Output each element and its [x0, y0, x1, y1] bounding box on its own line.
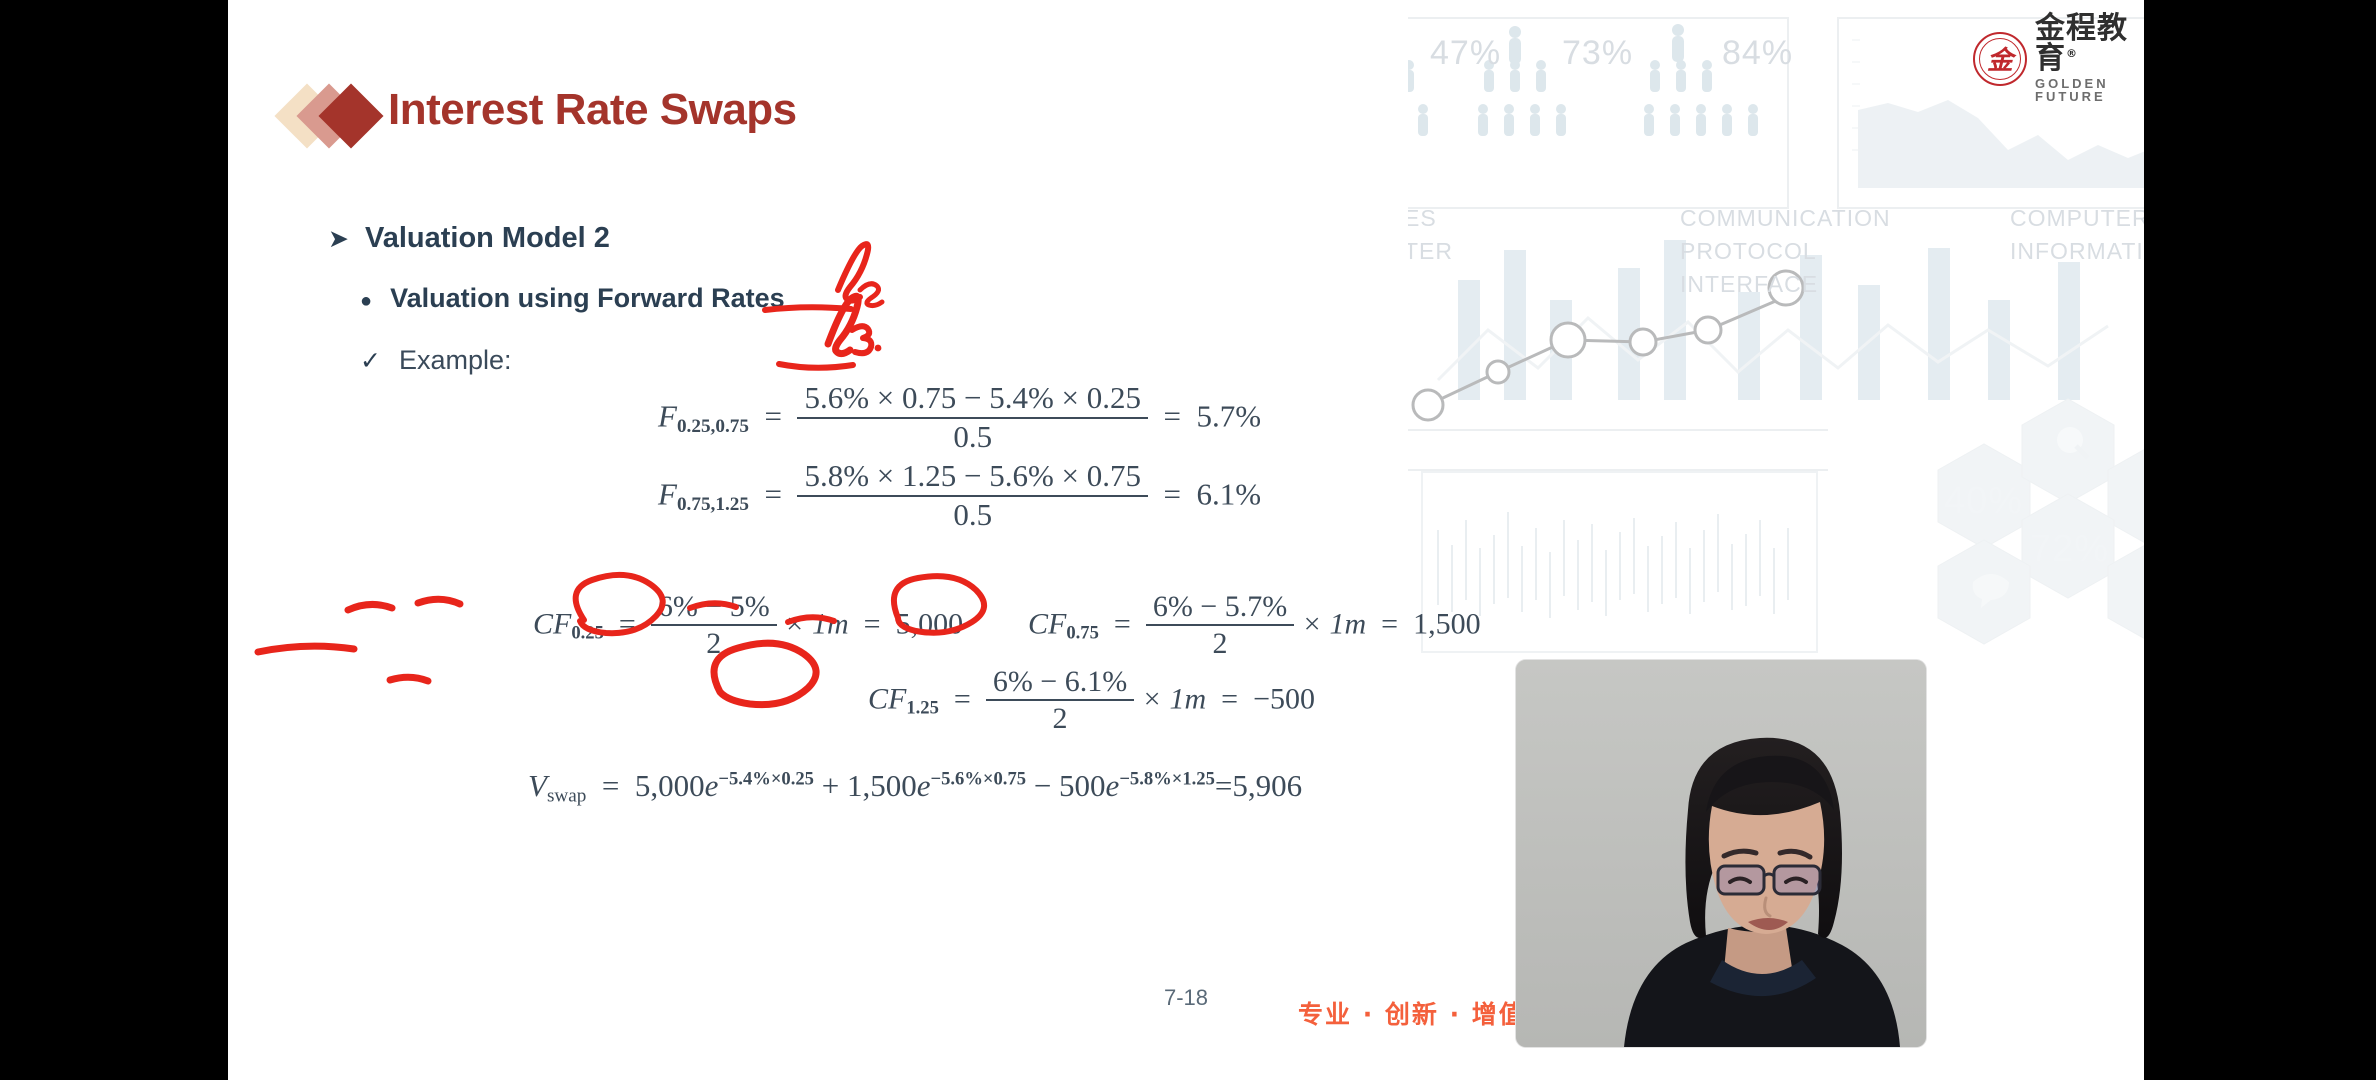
bullet-level1-label: Valuation Model 2: [365, 222, 610, 255]
cf1-equals2: =: [856, 607, 888, 640]
ink-underline-numerator-1a: [348, 604, 392, 610]
ink-handwriting-l3-sub: [852, 326, 871, 353]
ink-handwriting-l3-dot: [875, 345, 882, 352]
watermark-label-es: ES: [1408, 205, 1437, 232]
registered-mark: ®: [2066, 47, 2078, 60]
cash-flow-equation-2: CF0.75 = 6% − 5.7% 2 × 1m = 1,500: [1028, 590, 1481, 663]
cf3-multiplier: × 1m: [1142, 682, 1206, 715]
cf3-equals: =: [946, 682, 978, 715]
bullet-arrow-icon: ➤: [328, 224, 349, 254]
cf1-subscript: 0.25: [571, 622, 604, 643]
footer-slogan: 专业 · 创新 · 增值: [1298, 995, 1526, 1031]
watermark-label-ter: TER: [1408, 238, 1453, 265]
cf1-fraction: 6% − 5% 2: [651, 589, 777, 662]
letterbox-bar-right: [2144, 0, 2376, 1080]
cf2-multiplier: × 1m: [1302, 607, 1366, 640]
vswap-term2-exponent: −5.6%×0.75: [930, 768, 1026, 789]
vswap-symbol: V: [528, 768, 547, 803]
vswap-term3-coef: 500: [1059, 768, 1106, 803]
vswap-equals: =: [594, 768, 627, 803]
cf1-multiplier: × 1m: [784, 607, 848, 640]
vswap-term3-exponent: −5.8%×1.25: [1119, 768, 1215, 789]
fr1-fraction: 5.6% × 0.75 − 5.4% × 0.25 0.5: [797, 380, 1148, 455]
cf2-numerator: 6% − 5.7%: [1146, 589, 1294, 624]
ink-underline-numerator-1b: [418, 599, 460, 604]
fr2-subscript: 0.75,1.25: [677, 494, 749, 515]
brand-name-cn: 金程教育®: [2035, 14, 2144, 74]
brand-name-en: GOLDEN FUTURE: [2035, 77, 2144, 103]
slide-title-row: Interest Rate Swaps: [284, 85, 797, 135]
cf3-subscript: 1.25: [906, 697, 939, 718]
bullet-level3: ✓ Example:: [360, 345, 512, 376]
fr2-result: 6.1%: [1197, 477, 1262, 512]
vswap-term2-base: e: [917, 768, 931, 803]
vswap-op2: +: [822, 768, 839, 803]
bullet-level1: ➤ Valuation Model 2: [328, 222, 610, 255]
ink-handwriting-l3: [828, 296, 858, 353]
fr2-numerator: 5.8% × 1.25 − 5.6% × 0.75: [797, 458, 1148, 495]
cf2-denominator: 2: [1146, 624, 1294, 661]
bullet-dot-icon: ●: [360, 290, 372, 313]
watermark-label-interface: INTERFACE: [1680, 271, 1818, 298]
bullet-level2: ● Valuation using Forward Rates: [360, 283, 785, 314]
cash-flow-equation-1: CF0.25 = 6% − 5% 2 × 1m = 5,000: [533, 590, 963, 663]
brand-logo: 金 金程教育® GOLDEN FUTURE: [1973, 14, 2144, 103]
vswap-term3-base: e: [1106, 768, 1120, 803]
brand-name-cn-text: 金程教育: [2035, 11, 2128, 76]
vswap-term1-base: e: [705, 768, 719, 803]
watermark-label-information: INFORMATION: [2010, 238, 2144, 265]
screen: 47% 73% 84% ES TER COMMUNICATION PROTOCO…: [0, 0, 2376, 1080]
watermark-hex-72: 72%: [2030, 528, 2109, 571]
vswap-term1-exponent: −5.4%×0.25: [718, 768, 814, 789]
page-title: Interest Rate Swaps: [388, 85, 797, 135]
cf3-denominator: 2: [986, 699, 1134, 736]
fr1-subscript: 0.25,0.75: [677, 416, 749, 437]
watermark-label-communication: COMMUNICATION: [1680, 205, 1891, 232]
cf3-symbol: CF: [868, 682, 906, 715]
ink-handwriting-l2: [838, 244, 868, 300]
watermark-percent-47: 47%: [1430, 34, 1501, 73]
fr2-symbol: F: [658, 477, 677, 512]
ink-underline-denominator-1: [390, 677, 428, 681]
cf1-equals: =: [611, 607, 643, 640]
fr2-denominator: 0.5: [797, 495, 1148, 534]
fr1-symbol: F: [658, 399, 677, 434]
fr1-denominator: 0.5: [797, 417, 1148, 456]
cf1-result: 5,000: [896, 607, 964, 640]
cf2-subscript: 0.75: [1066, 622, 1099, 643]
cf3-result: −500: [1253, 682, 1315, 715]
vswap-result: 5,906: [1232, 768, 1302, 803]
seal-mark-glyph: 金: [1975, 34, 2025, 84]
fr2-equals: =: [757, 477, 790, 512]
watermark-label-computer: COMPUTER: [2010, 205, 2144, 232]
cf1-denominator: 2: [651, 624, 777, 661]
forward-rate-equation-1: F0.25,0.75 = 5.6% × 0.75 − 5.4% × 0.25 0…: [658, 382, 1261, 457]
fr1-result: 5.7%: [1197, 399, 1262, 434]
watermark-percent-73: 73%: [1562, 34, 1633, 73]
fr1-equals2: =: [1156, 399, 1189, 434]
cf3-numerator: 6% − 6.1%: [986, 664, 1134, 699]
fr2-fraction: 5.8% × 1.25 − 5.6% × 0.75 0.5: [797, 458, 1148, 533]
seal-icon: 金: [1973, 32, 2027, 86]
forward-rate-equation-2: F0.75,1.25 = 5.8% × 1.25 − 5.6% × 0.75 0…: [658, 460, 1261, 535]
vswap-subscript: swap: [547, 785, 586, 806]
cf2-result: 1,500: [1413, 607, 1481, 640]
bullet-level3-label: Example:: [399, 345, 512, 376]
valuation-equation: Vswap = 5,000e−5.4%×0.25 + 1,500e−5.6%×0…: [528, 768, 1302, 807]
fr2-equals2: =: [1156, 477, 1189, 512]
letterbox-bar-left: [0, 0, 228, 1080]
presenter-webcam[interactable]: [1516, 660, 1926, 1047]
cf1-symbol: CF: [533, 607, 571, 640]
watermark-hex-40: 40%: [1944, 480, 2023, 523]
slide-canvas: 47% 73% 84% ES TER COMMUNICATION PROTOCO…: [228, 0, 2144, 1080]
vswap-equals2: =: [1215, 768, 1232, 803]
ink-underline-6-1-percent: [779, 364, 853, 368]
ink-underline-cf-025: [258, 646, 354, 652]
bullet-level2-label: Valuation using Forward Rates: [390, 283, 785, 314]
fr1-numerator: 5.6% × 0.75 − 5.4% × 0.25: [797, 380, 1148, 417]
cf2-symbol: CF: [1028, 607, 1066, 640]
vswap-op3: −: [1034, 768, 1051, 803]
cf2-fraction: 6% − 5.7% 2: [1146, 589, 1294, 662]
vswap-term1-coef: 5,000: [635, 768, 705, 803]
cf3-equals2: =: [1214, 682, 1246, 715]
bullet-check-icon: ✓: [360, 346, 381, 376]
watermark-label-protocol: PROTOCOL: [1680, 238, 1817, 265]
vswap-term2-coef: 1,500: [847, 768, 917, 803]
cf2-equals: =: [1106, 607, 1138, 640]
ink-handwriting-l2-sub: [860, 284, 882, 306]
cf1-numerator: 6% − 5%: [651, 589, 777, 624]
fr1-equals: =: [757, 399, 790, 434]
cash-flow-equation-3: CF1.25 = 6% − 6.1% 2 × 1m = −500: [868, 665, 1315, 738]
cf2-equals2: =: [1374, 607, 1406, 640]
cf3-fraction: 6% − 6.1% 2: [986, 664, 1134, 737]
watermark-percent-84: 84%: [1722, 34, 1793, 73]
